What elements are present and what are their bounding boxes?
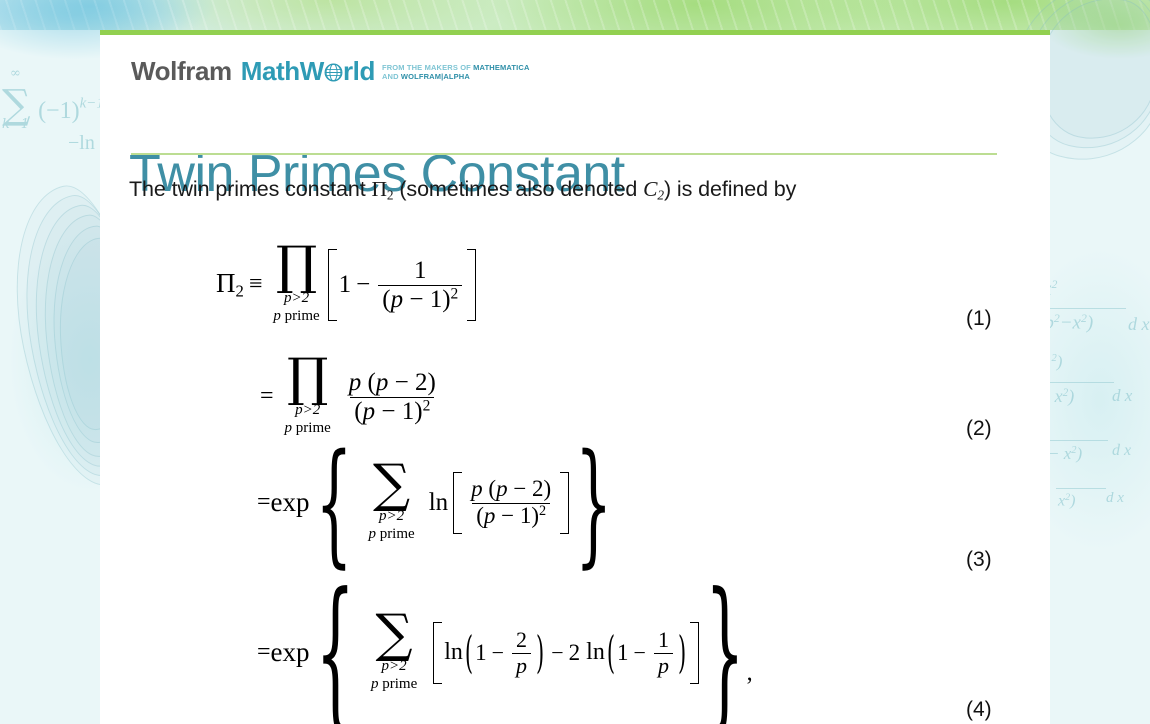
eq1-den-open: ( <box>382 286 390 313</box>
decor-formula-right-9 <box>1046 440 1108 441</box>
eq4-limit-lower: p>2 <box>382 657 407 675</box>
eq1-bracket-left <box>328 249 337 321</box>
content-panel: Wolfram MathW rld FROM THE MAKERS OF MAT… <box>100 30 1050 724</box>
logo-tagline-line1: FROM THE MAKERS OF MATHEMATICA <box>382 63 530 72</box>
eq1-minus: − <box>356 271 370 299</box>
intro-part1: The twin primes constant <box>129 177 371 201</box>
site-logo[interactable]: Wolfram MathW rld FROM THE MAKERS OF MAT… <box>131 58 530 84</box>
eq4-exp-function: exp <box>271 637 310 668</box>
eq1-bracket-right <box>467 249 476 321</box>
eq4-term1-one: 1 <box>475 640 487 666</box>
eq1-product-operator: ∏ p>2 p prime <box>273 245 319 325</box>
eq3-frac-numerator: p (p − 2) <box>467 477 555 502</box>
eq1-den-var: p <box>391 286 404 313</box>
equation-3-number: (3) <box>966 548 992 572</box>
top-band-streaks <box>0 0 1150 30</box>
intro-paragraph: The twin primes constant Π2 (sometimes a… <box>129 177 796 204</box>
eq1-limit-lower: p>2 <box>284 289 309 307</box>
eq4-term2-den: p <box>654 653 673 678</box>
equation-4-body: = exp { ∑ p>2 p prime ln ( 1 − 2 p <box>252 613 753 693</box>
equation-2-number: (2) <box>966 417 992 441</box>
intro-part3: ) is defined by <box>664 177 796 201</box>
eq2-fraction: p (p − 2) (p − 1)2 <box>345 369 440 425</box>
eq3-relation: = <box>257 489 271 516</box>
eq3-sum-glyph: ∑ <box>373 463 410 506</box>
eq3-sum-operator: ∑ p>2 p prime <box>368 463 414 543</box>
decor-formula-right-8: d x <box>1112 386 1132 406</box>
eq4-limit-condition: p prime <box>371 675 417 693</box>
title-divider <box>131 153 997 155</box>
eq1-relation: ≡ <box>249 271 263 298</box>
decor-formula-left-tail: −ln <box>68 132 95 155</box>
eq1-fraction: 1 (p − 1)2 <box>378 257 462 313</box>
eq4-brace-close: } <box>705 572 744 724</box>
eq1-lhs: Π2 <box>216 268 244 302</box>
eq2-relation: = <box>260 383 274 410</box>
eq1-bracket-group: 1 − 1 (p − 1)2 <box>326 249 479 321</box>
eq4-relation: = <box>257 639 271 666</box>
eq4-term1-paren-close: ) <box>536 628 544 678</box>
eq3-limit-lower: p>2 <box>379 507 404 525</box>
eq4-log-1: ln <box>444 639 463 666</box>
eq4-sum-operator: ∑ p>2 p prime <box>371 613 417 693</box>
logo-tagline-line2: AND WOLFRAM|ALPHA <box>382 72 470 81</box>
eq3-fraction: p (p − 2) (p − 1)2 <box>467 477 555 529</box>
eq4-term2-minus: − <box>634 640 646 666</box>
tagline-line2-em: WOLFRAM|ALPHA <box>401 72 470 81</box>
eq2-product-glyph: ∏ <box>287 357 328 400</box>
spikey-globe-icon <box>324 60 343 79</box>
logo-mathworld-text: MathW rld <box>241 58 375 84</box>
eq4-term1-paren-open: ( <box>465 628 473 678</box>
eq4-term2-fraction: 1 p <box>654 628 673 678</box>
eq4-term1-fraction: 2 p <box>512 628 531 678</box>
eq3-brace-close: } <box>575 436 612 569</box>
logo-mathworld-pre: MathW <box>241 58 324 84</box>
eq4-mid-minus: − <box>551 640 563 666</box>
eq4-log-2: ln <box>586 639 605 666</box>
eq4-trailing-comma: , <box>747 660 753 687</box>
eq1-lhs-glyph: Π <box>216 268 236 298</box>
eq4-term2-num: 1 <box>654 628 673 652</box>
decor-formula-left: ∞ ∑ k=1 (−1)k−1 <box>2 88 104 126</box>
eq1-limit-condition: p prime <box>273 307 319 325</box>
eq1-product-glyph: ∏ <box>276 245 317 288</box>
intro-symbol-c: C2 <box>643 177 664 201</box>
eq1-one: 1 <box>339 271 352 299</box>
eq2-frac-denominator: (p − 1)2 <box>350 397 434 425</box>
decor-formula-right-13: x2) <box>1058 492 1075 510</box>
intro-symbol-c-sub: 2 <box>657 188 664 203</box>
eq3-limit-condition: p prime <box>368 525 414 543</box>
intro-symbol-pi-glyph: Π <box>371 177 386 201</box>
intro-symbol-c-glyph: C <box>643 177 657 201</box>
eq3-den-exp: 2 <box>539 503 546 519</box>
logo-tagline: FROM THE MAKERS OF MATHEMATICA AND WOLFR… <box>382 64 530 82</box>
top-gradient-band <box>0 0 1150 30</box>
eq1-den-close: ) <box>442 286 450 313</box>
decor-formula-right-14: d x <box>1106 490 1124 507</box>
equation-4-number: (4) <box>966 698 992 722</box>
equation-1-body: Π2 ≡ ∏ p>2 p prime 1 − 1 (p − 1)2 <box>216 245 478 325</box>
tagline-line1-em: MATHEMATICA <box>473 63 529 72</box>
eq4-brace-open: { <box>316 572 355 724</box>
eq4-term2-paren-close: ) <box>678 628 686 678</box>
eq1-lhs-sub: 2 <box>236 282 244 301</box>
eq1-frac-numerator: 1 <box>410 257 431 284</box>
eq2-frac-numerator: p (p − 2) <box>345 369 440 396</box>
eq4-sum-glyph: ∑ <box>376 613 413 656</box>
decor-blob-topright <box>1040 0 1150 60</box>
eq3-bracket-left <box>453 472 462 534</box>
eq1-den-one: 1 <box>430 286 443 313</box>
eq3-exp-function: exp <box>271 487 310 518</box>
eq4-mid-two: 2 <box>569 640 581 666</box>
logo-mathworld-post: rld <box>343 58 375 84</box>
eq3-log: ln <box>429 489 448 517</box>
eq4-bracket-left <box>433 622 442 684</box>
equation-1-number: (1) <box>966 307 992 331</box>
eq4-term1-den: p <box>512 653 531 678</box>
eq3-bracket-group: p (p − 2) (p − 1)2 <box>451 472 571 534</box>
eq4-term1-num: 2 <box>512 628 531 652</box>
eq4-bracket-right <box>690 622 699 684</box>
eq3-frac-denominator: (p − 1)2 <box>472 503 550 529</box>
eq1-frac-denominator: (p − 1)2 <box>378 285 462 313</box>
logo-wolfram-text: Wolfram <box>131 58 232 84</box>
eq1-den-minus: − <box>409 286 423 313</box>
intro-symbol-pi: Π2 <box>371 177 393 201</box>
eq3-bracket-right <box>560 472 569 534</box>
decor-formula-right-10: − x2) <box>1048 444 1082 464</box>
decor-formula-right-12 <box>1056 488 1106 489</box>
decor-formula-left-sup: ∞ <box>10 67 21 80</box>
decor-formula-left-sub: k=1 <box>2 118 29 131</box>
decor-formula-right-11: d x <box>1112 442 1131 460</box>
tagline-line1-plain: FROM THE MAKERS OF <box>382 63 473 72</box>
eq1-den-exp: 2 <box>451 285 459 302</box>
eq2-limit-lower: p>2 <box>295 401 320 419</box>
intro-part2: (sometimes also denoted <box>393 177 643 201</box>
decor-formula-right-4: d x <box>1128 314 1150 335</box>
eq4-term2-paren-open: ( <box>607 628 615 678</box>
eq3-brace-open: { <box>316 436 353 569</box>
eq4-term2-one: 1 <box>617 640 629 666</box>
eq4-term1-minus: − <box>492 640 504 666</box>
tagline-line2-plain: AND <box>382 72 401 81</box>
eq4-bracket-group: ln ( 1 − 2 p ) − 2 ln ( 1 − 1 <box>431 622 701 684</box>
equation-3-body: = exp { ∑ p>2 p prime ln p (p − 2) (p − … <box>252 463 614 543</box>
eq2-den-exp: 2 <box>423 397 431 414</box>
